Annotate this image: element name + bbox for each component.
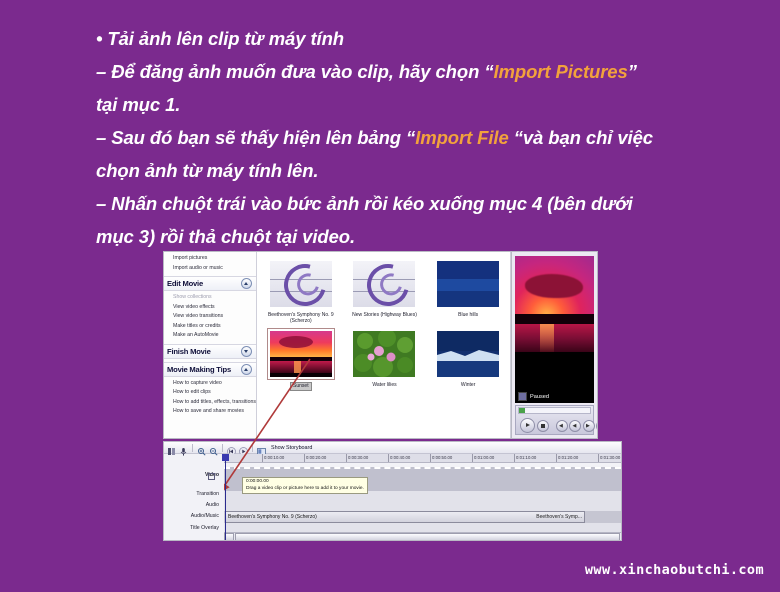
previous-frame-button[interactable]: ◀ (556, 420, 568, 432)
sidebar-link-import-audio[interactable]: Import audio or music (164, 264, 256, 274)
preview-letterbox (515, 352, 594, 390)
timeline-tracks: Beethoven's Symphony No. 9 (Scherzo) Bee… (224, 463, 621, 541)
collection-item[interactable]: Sunset (263, 328, 339, 390)
thumbnail-wrapper[interactable] (267, 258, 335, 310)
water-lilies-thumbnail (353, 331, 415, 377)
preview-monitor: Paused ◀ ◀ ▶ ▶ (511, 252, 597, 438)
embedded-app-screenshot: Import pictures Import audio or music Ed… (163, 251, 622, 541)
audio-clip-label-right: Beethoven's Symp... (536, 514, 582, 520)
winter-thumbnail (437, 331, 499, 377)
text-line-2: – Để đăng ảnh muốn đưa vào clip, hãy chọ… (96, 55, 696, 88)
scrollbar-thumb[interactable] (235, 533, 620, 541)
collection-item[interactable]: Winter (430, 328, 506, 390)
music-note-icon (276, 261, 332, 307)
collection-item-caption: Winter (461, 382, 475, 388)
sidebar-link-show-collections[interactable]: Show collections (164, 293, 256, 303)
task-pane-sidebar: Import pictures Import audio or music Ed… (164, 252, 257, 438)
forward-button[interactable]: ▶ (583, 420, 595, 432)
play-timeline-icon[interactable] (239, 443, 248, 452)
narrate-microphone-icon[interactable] (179, 443, 188, 452)
collection-item[interactable]: Water lilies (347, 328, 423, 390)
ruler-tick: 0:00:30.00 (346, 454, 368, 462)
ruler-tick: 0:00:20.00 (304, 454, 326, 462)
watermark: www.xinchaobutchi.com (585, 562, 764, 578)
rewind-timeline-icon[interactable] (227, 443, 236, 452)
music-note-icon (360, 261, 416, 307)
seek-slider[interactable] (518, 407, 591, 414)
thumbnail-wrapper-selected[interactable] (267, 328, 335, 380)
drop-target-tooltip: 0:00:00.00 Drag a video clip or picture … (242, 477, 368, 494)
sunset-thumbnail (270, 331, 332, 377)
previous-frame-icon: ◀ (559, 424, 563, 428)
transport-controls: ◀ ◀ ▶ ▶ (515, 405, 594, 435)
chevron-up-icon[interactable] (241, 278, 252, 289)
storyboard-icon[interactable] (257, 443, 266, 452)
collection-item-caption: Blue hills (458, 312, 478, 318)
thumbnail-wrapper[interactable] (434, 258, 502, 310)
audio-clip-label: Beethoven's Symphony No. 9 (Scherzo) (228, 514, 317, 520)
text-line-6: – Nhấn chuột trái vào bức ảnh rồi kéo xu… (96, 187, 696, 220)
audio-clip[interactable]: Beethoven's Symphony No. 9 (Scherzo) Bee… (225, 511, 585, 523)
sidebar-link-view-video-effects[interactable]: View video effects (164, 303, 256, 313)
preview-screen[interactable] (515, 256, 594, 390)
timeline-horizontal-scrollbar[interactable] (224, 532, 621, 541)
ruler-tick: 0:00:40.00 (388, 454, 410, 462)
rewind-button[interactable]: ◀ (569, 420, 581, 432)
collection-item-caption: Water lilies (372, 382, 396, 388)
sidebar-section-title: Finish Movie (167, 347, 211, 356)
track-label-title-overlay: Title Overlay (190, 525, 224, 531)
timeline-toggle-icon[interactable] (167, 443, 176, 452)
sidebar-section-finish-movie[interactable]: Finish Movie (164, 344, 256, 359)
collection-item[interactable]: Beethoven's Symphony No. 9 (Scherzo) (263, 258, 339, 324)
monitor-icon (518, 392, 527, 401)
preview-status-text: Paused (530, 394, 549, 400)
sidebar-section-movie-making-tips[interactable]: Movie Making Tips (164, 362, 256, 377)
text-line-4: – Sau đó bạn sẽ thấy hiện lên bảng “Impo… (96, 121, 696, 154)
sidebar-link-make-titles-or-credits[interactable]: Make titles or credits (164, 322, 256, 332)
blue-hills-thumbnail (437, 261, 499, 307)
sidebar-link-how-to-edit-clips[interactable]: How to edit clips (164, 388, 256, 398)
track-label-audio: Audio (206, 502, 224, 508)
chevron-up-icon[interactable] (241, 364, 252, 375)
text-line-4-b: “và bạn chỉ việc (509, 127, 653, 148)
play-icon (526, 423, 530, 427)
ruler-tick: 0:01:20.00 (556, 454, 578, 462)
collections-grid: Beethoven's Symphony No. 9 (Scherzo) New… (263, 258, 506, 391)
ruler-tick: 0:01:10.00 (514, 454, 536, 462)
expand-video-track-icon[interactable]: − (208, 473, 215, 480)
timeline-body: Video Transition Audio Audio/Music Title… (164, 463, 621, 541)
thumbnail-wrapper[interactable] (434, 328, 502, 380)
thumbnail-wrapper[interactable] (350, 258, 418, 310)
next-frame-button[interactable]: ▶ (596, 420, 598, 432)
ruler-tick: 0:00:10.00 (262, 454, 284, 462)
text-line-2-b: ” (628, 61, 637, 82)
text-line-5: chọn ảnh từ máy tính lên. (96, 154, 696, 187)
sidebar-link-how-to-add-titles[interactable]: How to add titles, effects, transitions (164, 398, 256, 408)
collection-item-caption-selected: Sunset (290, 382, 312, 390)
track-label-transition: Transition (196, 491, 224, 497)
text-line-7: mục 3) rồi thả chuột tại video. (96, 220, 696, 253)
audio-clip-icon (270, 261, 332, 307)
stop-icon (541, 424, 545, 428)
collection-item[interactable]: New Stories (Highway Blues) (347, 258, 423, 324)
text-line-3: tại mục 1. (96, 88, 696, 121)
collections-pane: Beethoven's Symphony No. 9 (Scherzo) New… (257, 252, 511, 438)
track-label-audio-music: Audio/Music (191, 513, 224, 519)
collection-item-caption: Beethoven's Symphony No. 9 (Scherzo) (266, 312, 336, 324)
show-storyboard-button[interactable]: Show Storyboard (271, 445, 312, 451)
toolbar-separator (252, 444, 253, 452)
slide-body-text: • Tải ảnh lên clip từ máy tính – Để đăng… (96, 22, 696, 253)
preview-status-bar: Paused (515, 390, 594, 403)
sidebar-link-make-an-automovie[interactable]: Make an AutoMovie (164, 331, 256, 341)
highlight-import-pictures: Import Pictures (493, 61, 627, 82)
toolbar-separator (222, 444, 223, 452)
ruler-tick: 0:00:50.00 (430, 454, 452, 462)
highlight-import-file: Import File (415, 127, 508, 148)
sidebar-section-title: Movie Making Tips (167, 365, 231, 374)
timeline-panel: Show Storyboard 0:00:10.00 0:00:20.00 0:… (163, 441, 622, 541)
zoom-out-icon[interactable] (209, 443, 218, 452)
sidebar-section-title: Edit Movie (167, 279, 203, 288)
preview-cloud (525, 274, 583, 298)
text-line-2-a: – Để đăng ảnh muốn đưa vào clip, hãy chọ… (96, 61, 493, 82)
preview-hills (515, 314, 594, 324)
chevron-down-icon[interactable] (241, 346, 252, 357)
sidebar-link-view-video-transitions[interactable]: View video transitions (164, 312, 256, 322)
preview-water (515, 324, 594, 352)
ruler-tick: 0:01:30.00 (598, 454, 620, 462)
playhead[interactable] (225, 454, 226, 541)
timeline-ruler[interactable]: 0:00:10.00 0:00:20.00 0:00:30.00 0:00:40… (224, 454, 621, 463)
stop-button[interactable] (537, 420, 549, 432)
timeline-track-labels: Video Transition Audio Audio/Music Title… (164, 463, 224, 541)
transport-button-row: ◀ ◀ ▶ ▶ (516, 415, 593, 433)
timeline-toolbar: Show Storyboard (164, 442, 621, 454)
rewind-icon: ◀ (573, 424, 577, 428)
thumbnail-wrapper[interactable] (350, 328, 418, 380)
movie-maker-window: Import pictures Import audio or music Ed… (163, 251, 598, 439)
sidebar-link-import-pictures[interactable]: Import pictures (164, 254, 256, 264)
sidebar-link-how-to-save-and-share[interactable]: How to save and share movies (164, 407, 256, 417)
tooltip-text: Drag a video clip or picture here to add… (246, 486, 364, 493)
collection-item-caption: New Stories (Highway Blues) (352, 312, 417, 318)
zoom-in-icon[interactable] (197, 443, 206, 452)
forward-icon: ▶ (586, 424, 590, 428)
toolbar-separator (192, 444, 193, 452)
ruler-tick: 0:01:00.00 (472, 454, 494, 462)
sidebar-section-edit-movie[interactable]: Edit Movie (164, 276, 256, 291)
play-button[interactable] (520, 418, 535, 433)
text-line-1: • Tải ảnh lên clip từ máy tính (96, 22, 696, 55)
audio-clip-icon (353, 261, 415, 307)
collection-item[interactable]: Blue hills (430, 258, 506, 324)
sidebar-link-how-to-capture-video[interactable]: How to capture video (164, 379, 256, 389)
text-line-4-a: – Sau đó bạn sẽ thấy hiện lên bảng “ (96, 127, 415, 148)
